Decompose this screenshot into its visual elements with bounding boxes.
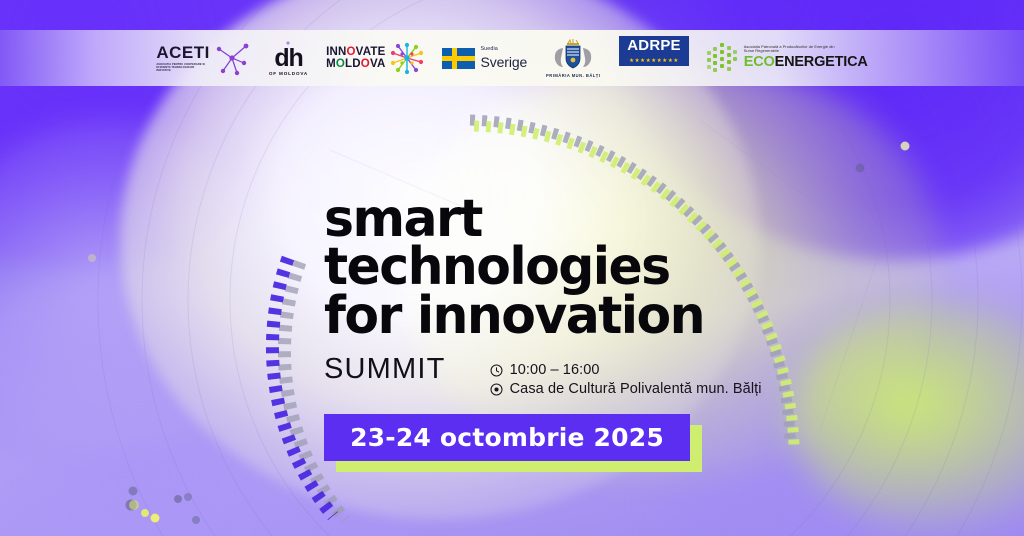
logo-dh-of-moldova: dh OF MOLDOVA: [269, 36, 308, 80]
sweden-flag-icon: [442, 48, 475, 69]
logo-dh-word: dh: [274, 47, 302, 70]
eco-pixel-dots-icon: [707, 43, 739, 73]
logo-sverige-big: Sverige: [480, 55, 527, 69]
logo-adrpe-stars: ★★★★★★★★★: [619, 58, 689, 67]
title-line-3: for innovation: [324, 292, 925, 340]
event-meta: 10:00 – 16:00 Casa de Cultură Polivalent…: [490, 355, 762, 397]
subtitle-row: SUMMIT 10:00 – 16:00 Casa de Cultură Pol…: [324, 355, 944, 397]
logo-primaria-balti: PRIMĂRIA MUN. BĂLȚI: [545, 36, 601, 80]
clock-icon: [490, 364, 503, 377]
page-title: smart technologies for innovation: [324, 195, 925, 340]
summit-label: SUMMIT: [324, 355, 446, 384]
date-badge-label: 23-24 octombrie 2025: [350, 423, 664, 452]
logo-ecoenergetica-subtitle: Asociația Patronală a Producătorilor de …: [744, 45, 840, 54]
logo-ecoenergetica: Asociația Patronală a Producătorilor de …: [707, 36, 868, 80]
coat-of-arms-icon: [545, 38, 601, 71]
logo-innovate-line1: INNOVATE: [326, 46, 385, 58]
title-line-1: smart: [324, 195, 925, 243]
date-badge[interactable]: 23-24 octombrie 2025: [324, 414, 690, 461]
location-pin-icon: [490, 383, 503, 396]
logo-aceti: ACETI ASOCIATIA PENTRU COOPERARE SI EFIC…: [156, 36, 251, 80]
logo-innovate-line2: MOLDOVA: [326, 58, 385, 70]
logo-adrpe: ADRPE ★★★★★★★★★: [619, 36, 689, 80]
logo-ecoenergetica-word: ECOENERGETICA: [744, 55, 868, 71]
logo-adrpe-word: ADRPE: [619, 36, 689, 58]
logo-aceti-subtitle: ASOCIATIA PENTRU COOPERARE SI EFICIENTA …: [156, 63, 208, 73]
logo-innovate-moldova: INNOVATE MOLDOVA: [326, 36, 424, 80]
event-venue: Casa de Cultură Polivalentă mun. Bălți: [510, 381, 762, 397]
event-time: 10:00 – 16:00: [510, 362, 600, 378]
logo-ecoenergetica-word-energetica: ENERGETICA: [775, 54, 868, 70]
title-line-2: technologies: [324, 243, 925, 291]
event-venue-row: Casa de Cultură Polivalentă mun. Bălți: [490, 381, 762, 397]
event-banner: ACETI ASOCIATIA PENTRU COOPERARE SI EFIC…: [0, 0, 1024, 536]
partner-logo-bar: ACETI ASOCIATIA PENTRU COOPERARE SI EFIC…: [0, 30, 1024, 86]
logo-sverige: Suedia Sverige: [442, 36, 527, 80]
logo-dh-subtitle: OF MOLDOVA: [269, 71, 308, 76]
logo-ecoenergetica-word-eco: ECO: [744, 54, 775, 70]
node-network-icon: [213, 39, 251, 77]
hero-content: smart technologies for innovation SUMMIT…: [324, 195, 944, 461]
logo-sverige-small: Suedia: [480, 47, 527, 52]
event-time-row: 10:00 – 16:00: [490, 362, 762, 378]
colorful-burst-icon: [390, 42, 424, 74]
date-badge-wrapper: 23-24 octombrie 2025: [324, 414, 690, 461]
logo-primaria-subtitle: PRIMĂRIA MUN. BĂLȚI: [546, 73, 600, 78]
logo-aceti-word: ACETI: [156, 44, 210, 61]
